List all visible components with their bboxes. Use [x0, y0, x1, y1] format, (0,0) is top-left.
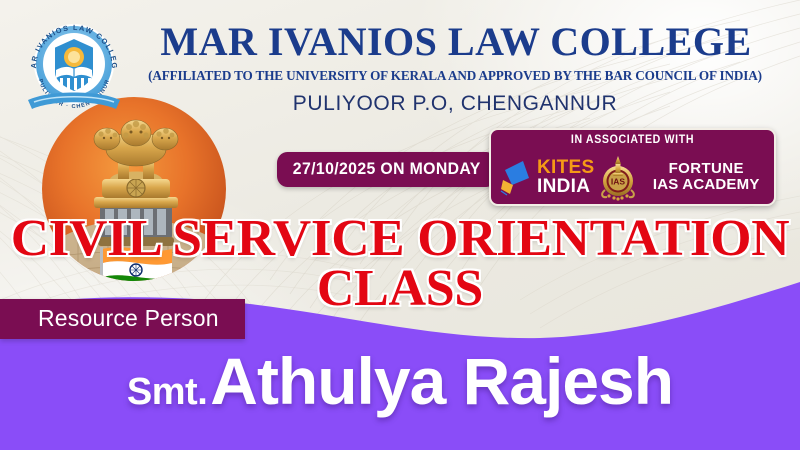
affiliation-text: (AFFILIATED TO THE UNIVERSITY OF KERALA … [110, 68, 800, 84]
kites-india-wordmark: KITES INDIA [537, 158, 594, 197]
fortune-line1: FORTUNE [638, 161, 774, 177]
poster-header: MAR IVANIOS LAW COLLEGE PULIYOOR · CHENG… [0, 0, 800, 122]
partners-title: IN ASSOCIATED WITH [502, 134, 762, 146]
resource-person-banner: Resource Person [0, 299, 245, 339]
ias-emblem-icon: IAS [596, 154, 640, 201]
event-title-line1: CIVIL SERVICE ORIENTATION [0, 214, 800, 264]
kites-line1: KITES [537, 158, 594, 177]
college-location: PULIYOOR P.O, CHENGANNUR [110, 92, 800, 116]
kite-icon [499, 158, 533, 196]
fortune-ias-wordmark: FORTUNE IAS ACADEMY [638, 161, 774, 193]
kites-line2: INDIA [537, 177, 594, 196]
speaker-name: Smt.Athulya Rajesh [0, 348, 800, 414]
poster-canvas: MAR IVANIOS LAW COLLEGE PULIYOOR · CHENG… [0, 0, 800, 450]
speaker-honorific: Smt. [127, 371, 207, 413]
speaker-fullname: Athulya Rajesh [210, 344, 673, 418]
partners-box: IN ASSOCIATED WITH KITES INDIA [489, 128, 776, 206]
svg-text:IAS: IAS [611, 176, 626, 186]
college-name: MAR IVANIOS LAW COLLEGE [120, 22, 792, 62]
event-date-badge: 27/10/2025 ON MONDAY [277, 152, 497, 187]
fortune-line2: IAS ACADEMY [638, 177, 774, 193]
partner-logos-row: KITES INDIA IAS [491, 151, 774, 203]
